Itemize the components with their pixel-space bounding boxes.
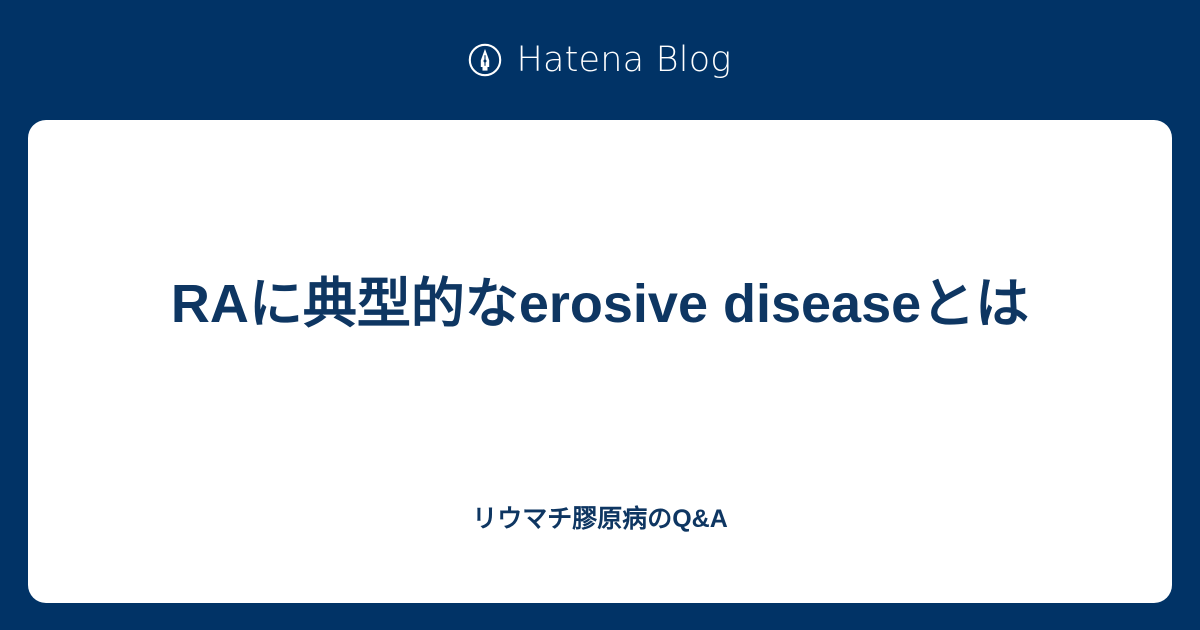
- brand-name-label: Hatena Blog: [516, 43, 731, 78]
- blog-name: リウマチ膠原病のQ&A: [28, 503, 1172, 536]
- og-image-canvas: Hatena Blog RAに典型的なerosive diseaseとは リウマ…: [0, 0, 1200, 630]
- entry-title: RAに典型的なerosive diseaseとは: [28, 268, 1172, 340]
- entry-card: RAに典型的なerosive diseaseとは リウマチ膠原病のQ&A: [28, 120, 1172, 603]
- brand-bar: Hatena Blog: [0, 0, 1200, 120]
- pen-nib-in-circle-icon: [468, 43, 502, 77]
